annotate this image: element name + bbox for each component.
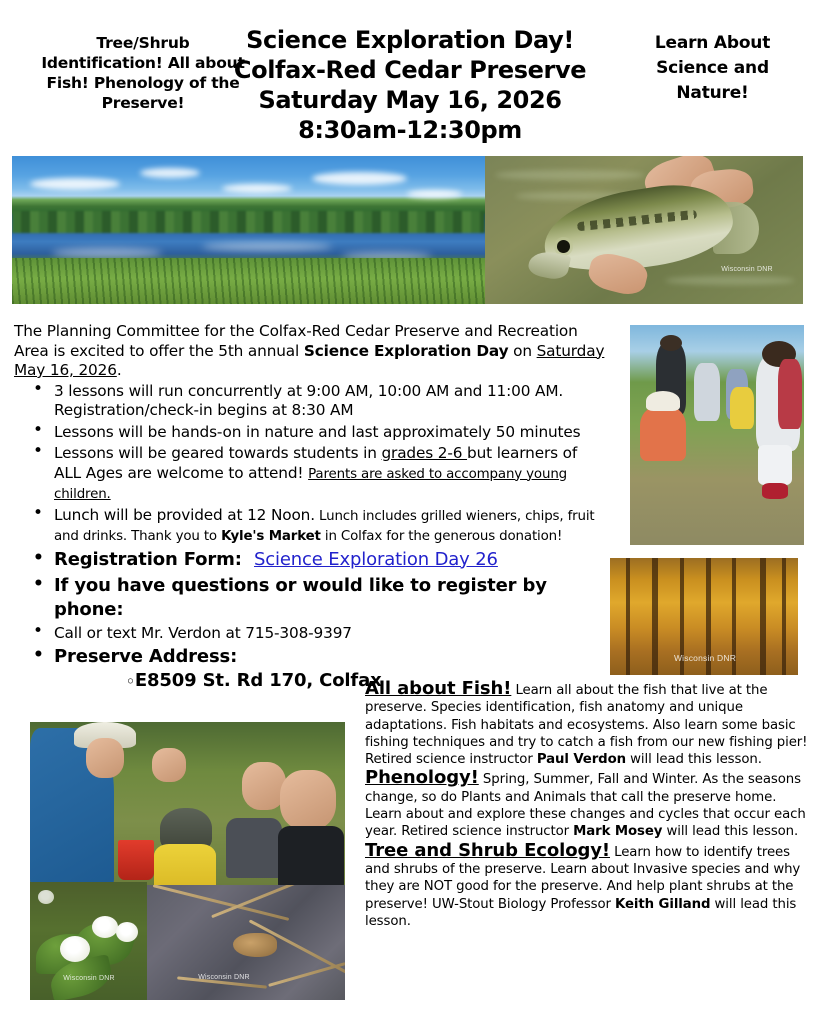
title-line-1: Science Exploration Day! xyxy=(225,25,595,55)
trillium-flower-photo: Wisconsin DNR xyxy=(30,882,147,1000)
list-item-schedule: 3 lessons will run concurrently at 9:00 … xyxy=(14,382,606,421)
lesson-phenology-body-b: will lead this lesson. xyxy=(662,824,798,839)
grades-text-a: Lessons will be geared towards students … xyxy=(54,444,382,462)
header-left-blurb: Tree/Shrub Identification! All about Fis… xyxy=(38,33,248,113)
lesson-phenology: Phenology! Spring, Summer, Fall and Wint… xyxy=(365,769,815,840)
schedule-text: 3 lessons will run concurrently at 9:00 … xyxy=(54,382,563,420)
address-value: E8509 St. Rd 170, Colfax xyxy=(135,670,382,691)
list-item-questions: If you have questions or would like to r… xyxy=(14,574,606,622)
title-line-3: Saturday May 16, 2026 xyxy=(225,85,595,115)
list-item-grades: Lessons will be geared towards students … xyxy=(14,444,606,504)
autumn-forest-photo: Wisconsin DNR xyxy=(610,558,798,675)
registration-label: Registration Form: xyxy=(54,549,242,570)
lunch-sponsor: Kyle's Market xyxy=(221,529,321,544)
lesson-tree-shrub-title: Tree and Shrub Ecology! xyxy=(365,840,610,861)
lesson-tree-shrub-instructor: Keith Gilland xyxy=(615,897,710,912)
forest-photo-watermark: Wisconsin DNR xyxy=(660,654,750,663)
lesson-fish-body-b: will lead this lesson. xyxy=(626,752,762,767)
lunch-text-a: Lunch will be provided at 12 Noon. xyxy=(54,506,315,524)
banner-photo-strip: Wisconsin DNR xyxy=(12,156,803,304)
pond-photo xyxy=(12,156,485,304)
questions-text: If you have questions or would like to r… xyxy=(54,575,547,620)
intro-part-2: on xyxy=(508,342,536,360)
lesson-tree-shrub: Tree and Shrub Ecology! Learn how to ide… xyxy=(365,842,815,930)
fish-photo: Wisconsin DNR xyxy=(485,156,803,304)
lesson-fish-title: All about Fish! xyxy=(365,678,511,699)
phone-text: Call or text Mr. Verdon at 715-308-9397 xyxy=(54,624,352,642)
lesson-length-text: Lessons will be hands-on in nature and l… xyxy=(54,423,580,441)
list-item-phone: Call or text Mr. Verdon at 715-308-9397 xyxy=(14,624,606,644)
flyer-body: The Planning Committee for the Colfax-Re… xyxy=(14,322,606,696)
intro-part-3: . xyxy=(117,361,122,379)
intro-bold-event: Science Exploration Day xyxy=(304,342,509,360)
title-line-4: 8:30am-12:30pm xyxy=(225,115,595,145)
outdoor-lesson-photo xyxy=(30,722,345,888)
lunch-text-c: in Colfax for the generous donation! xyxy=(321,529,562,544)
title-line-2: Colfax-Red Cedar Preserve xyxy=(225,55,595,85)
flyer-header: Tree/Shrub Identification! All about Fis… xyxy=(0,0,820,150)
intro-paragraph: The Planning Committee for the Colfax-Re… xyxy=(14,322,606,381)
grades-underline: grades 2-6 xyxy=(382,444,468,462)
details-list: 3 lessons will run concurrently at 9:00 … xyxy=(14,382,606,695)
frog-in-leaves-photo: Wisconsin DNR xyxy=(147,885,345,1000)
header-right-blurb: Learn About Science and Nature! xyxy=(620,31,805,106)
list-item-lesson-length: Lessons will be hands-on in nature and l… xyxy=(14,423,606,443)
lesson-descriptions: All about Fish! Learn all about the fish… xyxy=(365,680,815,931)
registration-form-link[interactable]: Science Exploration Day 26 xyxy=(254,549,498,570)
lesson-phenology-instructor: Mark Mosey xyxy=(573,824,662,839)
students-in-field-photo xyxy=(630,325,804,545)
page-title: Science Exploration Day! Colfax-Red Ceda… xyxy=(225,25,595,145)
list-item-lunch: Lunch will be provided at 12 Noon. Lunch… xyxy=(14,506,606,546)
lesson-fish-instructor: Paul Verdon xyxy=(537,752,626,767)
lesson-phenology-title: Phenology! xyxy=(365,767,479,788)
lesson-fish: All about Fish! Learn all about the fish… xyxy=(365,680,815,768)
fish-photo-watermark: Wisconsin DNR xyxy=(717,266,777,275)
list-item-registration: Registration Form: Science Exploration D… xyxy=(14,548,606,572)
address-label: Preserve Address: xyxy=(54,646,237,667)
